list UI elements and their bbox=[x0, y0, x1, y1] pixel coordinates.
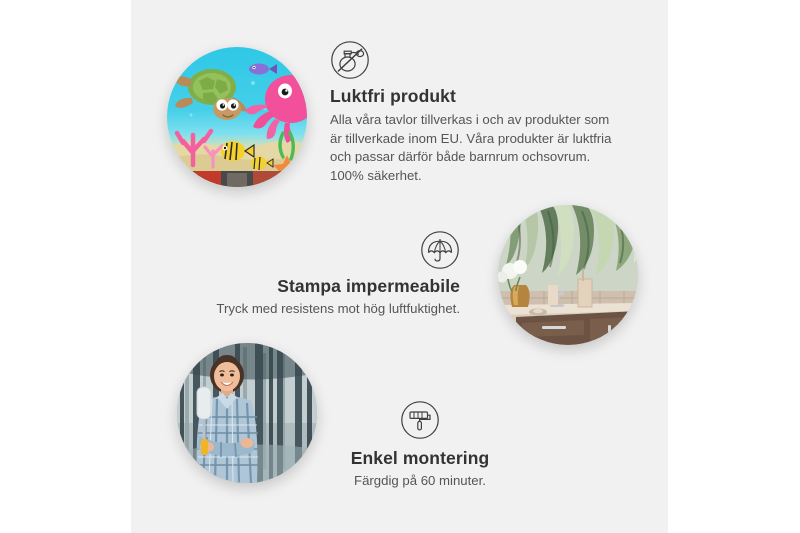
feature-title: Enkel montering bbox=[300, 448, 540, 469]
photo-bathroom-wallpaper bbox=[498, 205, 638, 345]
paint-roller-icon bbox=[400, 400, 440, 440]
feature-body: Tryck med resistens mot hög luftfuktighe… bbox=[190, 300, 460, 319]
feature-body: Färgdig på 60 minuter. bbox=[300, 472, 540, 491]
photo-painter-woman bbox=[177, 343, 317, 483]
feature-easymount: Enkel montering Färgdig på 60 minuter. bbox=[300, 400, 540, 491]
feature-body: Alla våra tavlor tillverkas i och av pro… bbox=[330, 111, 624, 185]
feature-odourless: Luktfri produkt Alla våra tavlor tillver… bbox=[330, 40, 624, 185]
no-odour-spray-bottle-icon bbox=[330, 40, 370, 80]
photo-underwater-scene bbox=[167, 47, 307, 187]
promo-banner: Luktfri produkt Alla våra tavlor tillver… bbox=[0, 0, 800, 533]
feature-title: Luktfri produkt bbox=[330, 86, 624, 107]
feature-title: Stampa impermeabile bbox=[190, 276, 460, 297]
umbrella-icon bbox=[420, 230, 460, 270]
feature-waterproof: Stampa impermeabile Tryck med resistens … bbox=[190, 230, 460, 319]
